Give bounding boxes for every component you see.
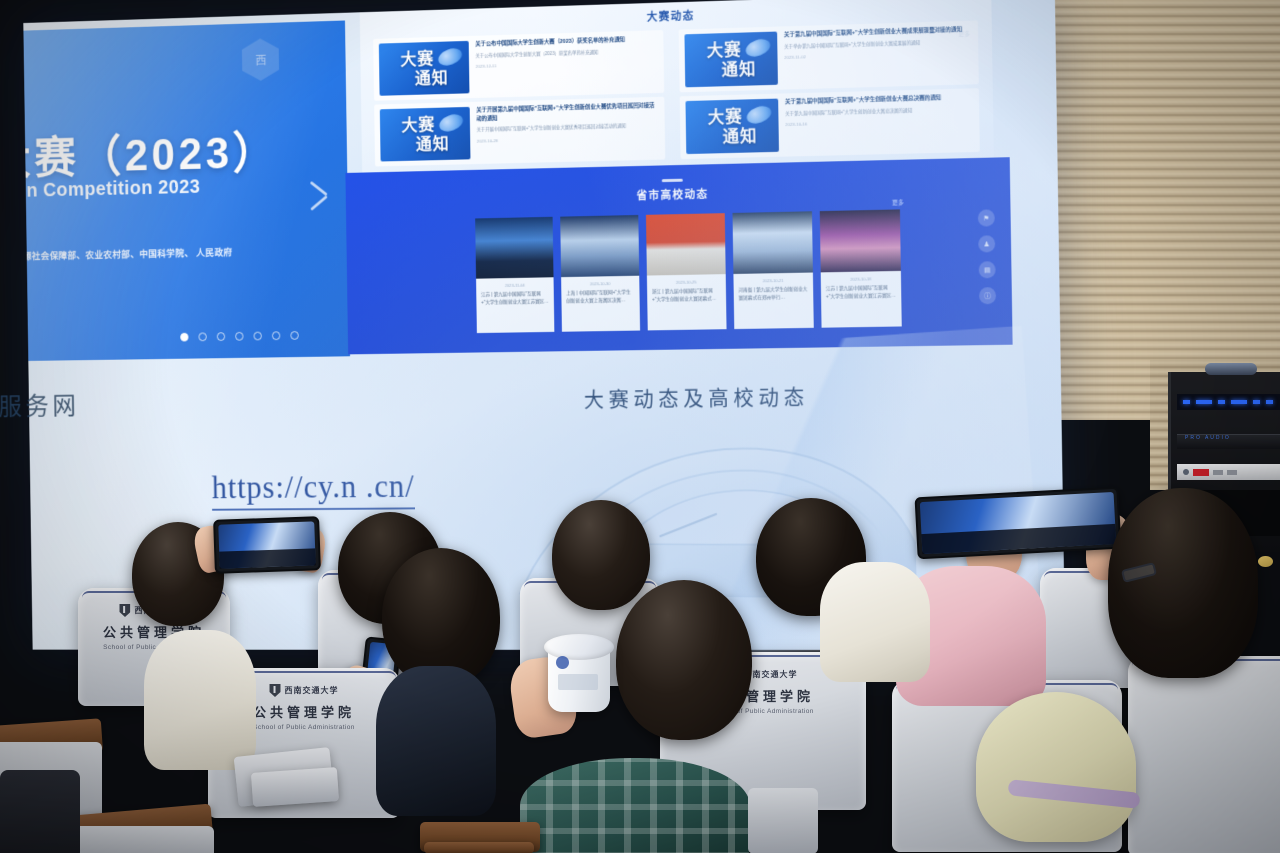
band-card[interactable]: 2023-10-25 浙江 | 第九届中国国际"互联网+"大学生创新创业大赛闭幕…: [646, 213, 727, 330]
hero-organizers: 人力资源社会保障部、农业农村部、中国科学院、 人民政府: [23, 244, 287, 267]
news-card-title: 关于开展第九届中国国际"互联网+"大学生创新创业大赛优秀项目巡回对接活动的通知: [476, 102, 659, 124]
info-icon[interactable]: ⓘ: [979, 287, 996, 304]
carousel-dot[interactable]: [254, 332, 262, 341]
thumb-line-1: 大赛: [401, 116, 435, 133]
band-card-photo: [560, 215, 639, 277]
band-card-text: 河南省 | 第九届大学生创新创业大赛闭幕式在郑州举行…: [738, 286, 808, 304]
carousel-dot[interactable]: [198, 332, 206, 341]
coffee-cup[interactable]: [548, 640, 610, 712]
band-card[interactable]: 2023-10-21 河南省 | 第九届大学生创新创业大赛闭幕式在郑州举行…: [732, 211, 813, 329]
armrest: [424, 842, 534, 853]
person-head: [616, 580, 752, 740]
news-card-grid: 大赛 通知 关于公布中国国际大学生创新大赛（2023）获奖名单的补充通知 关于公…: [373, 20, 980, 166]
news-card[interactable]: 大赛 通知 关于第九届中国国际"互联网+"大学生创新创业大赛成果展现暨对接的通知…: [679, 20, 979, 92]
news-card-body: 关于公布中国国际大学生创新大赛（2023）获奖名单的补充通知 关于公布中国国际大…: [475, 35, 658, 93]
competition-news-section: 大赛动态 更多 大赛 通知 关于公布中国国际大学生创新大赛（2023）获奖名单的…: [360, 0, 994, 178]
news-card-date: 2023-11-02: [784, 50, 972, 60]
person-torso: [820, 562, 930, 682]
band-card-date: 2023-10-18: [826, 276, 896, 282]
chair-university-name: 西南交通大学: [284, 685, 338, 696]
person-torso: [376, 666, 496, 816]
band-card-photo: [646, 213, 726, 275]
rack-top-object: [1205, 363, 1257, 375]
rack-amp-label: PRO AUDIO: [1177, 435, 1280, 441]
chevron-right-icon[interactable]: [307, 175, 332, 216]
news-card-date: 2023-10-28: [477, 134, 659, 143]
rack-led-panel: [1177, 394, 1280, 410]
document-icon[interactable]: ▤: [979, 261, 996, 278]
university-crest-icon: [269, 684, 280, 697]
band-card-date: 2023-11-04: [481, 282, 549, 288]
band-card-photo: [820, 209, 901, 272]
news-card[interactable]: 大赛 通知 关于开展第九届中国国际"互联网+"大学生创新创业大赛优秀项目巡回对接…: [374, 97, 665, 167]
trophy-icon[interactable]: ⚑: [978, 209, 995, 226]
thumb-line-1: 大赛: [400, 50, 434, 67]
news-thumbnail-notice-icon: 大赛 通知: [685, 99, 779, 154]
carousel-dot[interactable]: [217, 332, 225, 341]
swoosh-icon: [745, 103, 774, 126]
band-card[interactable]: 2023-11-04 江苏 | 第九届中国国际"互联网+"大学生创新创业大赛江苏…: [475, 217, 554, 333]
swoosh-icon: [744, 36, 773, 59]
band-card-date: 2023-10-30: [566, 281, 635, 287]
news-card-desc: 关于公布中国国际大学生创新大赛（2023）获奖名单的补充通知: [475, 47, 657, 60]
band-card-photo: [732, 211, 812, 274]
university-crest-icon: [120, 604, 131, 617]
news-thumbnail-notice-icon: 大赛 通知: [684, 32, 777, 88]
person-torso-plaid: [520, 758, 750, 853]
band-card-date: 2023-10-25: [652, 279, 721, 285]
audience-area: 西南交通大学 公共管理学院 School of Public Administr…: [0, 470, 1280, 853]
carousel-dot[interactable]: [290, 331, 298, 340]
thumb-line-1: 大赛: [708, 108, 743, 126]
smartphone[interactable]: [213, 516, 321, 574]
armrest-pad: [748, 788, 818, 853]
news-thumbnail-notice-icon: 大赛 通知: [380, 107, 471, 162]
tote-bag: [976, 692, 1136, 842]
person-torso: [144, 630, 256, 770]
band-card-text: 浙江 | 第九届中国国际"互联网+"大学生创新创业大赛闭幕式…: [652, 288, 721, 306]
news-card-desc: 关于开展中国国际"互联网+"大学生创新创业大赛优秀项目巡回对接活动的通知: [477, 122, 659, 134]
rack-amplifier: PRO AUDIO: [1177, 434, 1280, 449]
band-card-photo: [475, 217, 553, 279]
swoosh-icon: [436, 45, 464, 68]
slide-brand-left: 服务网: [0, 387, 80, 423]
news-card-desc: 关于第九届中国国际"互联网+"大学生创新创业大赛总决赛的通知: [785, 105, 973, 117]
carousel-dot[interactable]: [235, 332, 243, 341]
armrest-pad: [58, 826, 214, 853]
phone-screen: [920, 492, 1116, 554]
thumb-line-2: 通知: [721, 60, 756, 78]
band-card-text: 江苏 | 第九届中国国际"互联网+"大学生创新创业大赛江苏赛区…: [481, 291, 549, 309]
wooden-slat-wall: [1040, 0, 1280, 420]
slide-hero-carousel[interactable]: 西 大赛（2023） vation Competition 2023 人力资源社…: [23, 20, 350, 360]
band-heading: 省市高校动态: [346, 179, 1011, 210]
news-card[interactable]: 大赛 通知 关于公布中国国际大学生创新大赛（2023）获奖名单的补充通知 关于公…: [373, 30, 664, 101]
carousel-dots[interactable]: [180, 331, 299, 341]
person-head: [1108, 488, 1258, 678]
person-head: [552, 500, 650, 610]
hair-tie: [1258, 556, 1273, 567]
band-card-text: 上海 | 中国国际"互联网+"大学生创新创业大赛上海赛区决赛…: [566, 289, 635, 307]
phone-screen-silhouettes: [219, 549, 316, 569]
news-card-body: 关于第九届中国国际"互联网+"大学生创新创业大赛成果展现暨对接的通知 关于举办第…: [784, 26, 973, 85]
news-card-date: 2023-12-11: [476, 59, 658, 69]
hero-title-en: vation Competition 2023: [23, 176, 200, 203]
heading-rule: [662, 179, 683, 182]
news-card-body: 关于开展第九届中国国际"互联网+"大学生创新创业大赛优秀项目巡回对接活动的通知 …: [476, 102, 659, 159]
carousel-dot[interactable]: [272, 331, 280, 340]
swoosh-icon: [437, 111, 465, 134]
person-icon[interactable]: ♟: [978, 235, 995, 252]
university-news-band: 省市高校动态 更多 2023-11-04 江苏 | 第九届中国国际"互联网+"大…: [345, 157, 1012, 354]
phone-screen-silhouettes: [921, 524, 1116, 554]
seat-back-shadow: [0, 770, 80, 853]
news-card-date: 2023-10-16: [785, 117, 973, 127]
folding-tablet-desk[interactable]: [251, 767, 339, 807]
hero-title-cn: 大赛（2023）: [23, 117, 279, 187]
news-card[interactable]: 大赛 通知 关于第九届中国国际"互联网+"大学生创新创业大赛总决赛的通知 关于第…: [680, 88, 980, 159]
phone-screen: [218, 521, 315, 568]
lecture-hall-scene: 西 大赛（2023） vation Competition 2023 人力资源社…: [0, 0, 1280, 853]
thumb-line-1: 大赛: [707, 41, 742, 59]
cup-logo-icon: [556, 656, 569, 669]
band-card[interactable]: 2023-10-18 江苏 | 第九届中国国际"互联网+"大学生创新创业大赛江苏…: [820, 209, 902, 327]
thumb-line-2: 通知: [722, 127, 757, 145]
band-card-text: 江苏 | 第九届中国国际"互联网+"大学生创新创业大赛江苏赛区…: [826, 285, 897, 303]
cup-label: [558, 674, 598, 690]
thumb-line-2: 通知: [416, 135, 450, 152]
cup-lid: [544, 634, 614, 660]
band-more-link[interactable]: 更多: [892, 197, 904, 206]
carousel-dot[interactable]: [180, 333, 188, 342]
band-card-grid: 2023-11-04 江苏 | 第九届中国国际"互联网+"大学生创新创业大赛江苏…: [475, 209, 902, 333]
news-card-body: 关于第九届中国国际"互联网+"大学生创新创业大赛总决赛的通知 关于第九届中国国际…: [785, 93, 974, 151]
competition-badge-icon: 西: [242, 38, 279, 81]
slide-caption-right: 大赛动态及高校动态: [584, 381, 810, 413]
news-thumbnail-notice-icon: 大赛 通知: [379, 41, 470, 96]
side-quick-nav[interactable]: ⚑ ♟ ▤ ⓘ: [978, 209, 996, 304]
seat[interactable]: [1128, 656, 1280, 853]
smartphone[interactable]: [915, 487, 1122, 560]
news-card-desc: 关于举办第九届中国国际"互联网+"大学生创新创业大赛成果展的通知: [784, 37, 972, 50]
band-card[interactable]: 2023-10-30 上海 | 中国国际"互联网+"大学生创新创业大赛上海赛区决…: [560, 215, 640, 332]
band-card-date: 2023-10-21: [738, 278, 808, 284]
thumb-line-2: 通知: [415, 69, 449, 86]
